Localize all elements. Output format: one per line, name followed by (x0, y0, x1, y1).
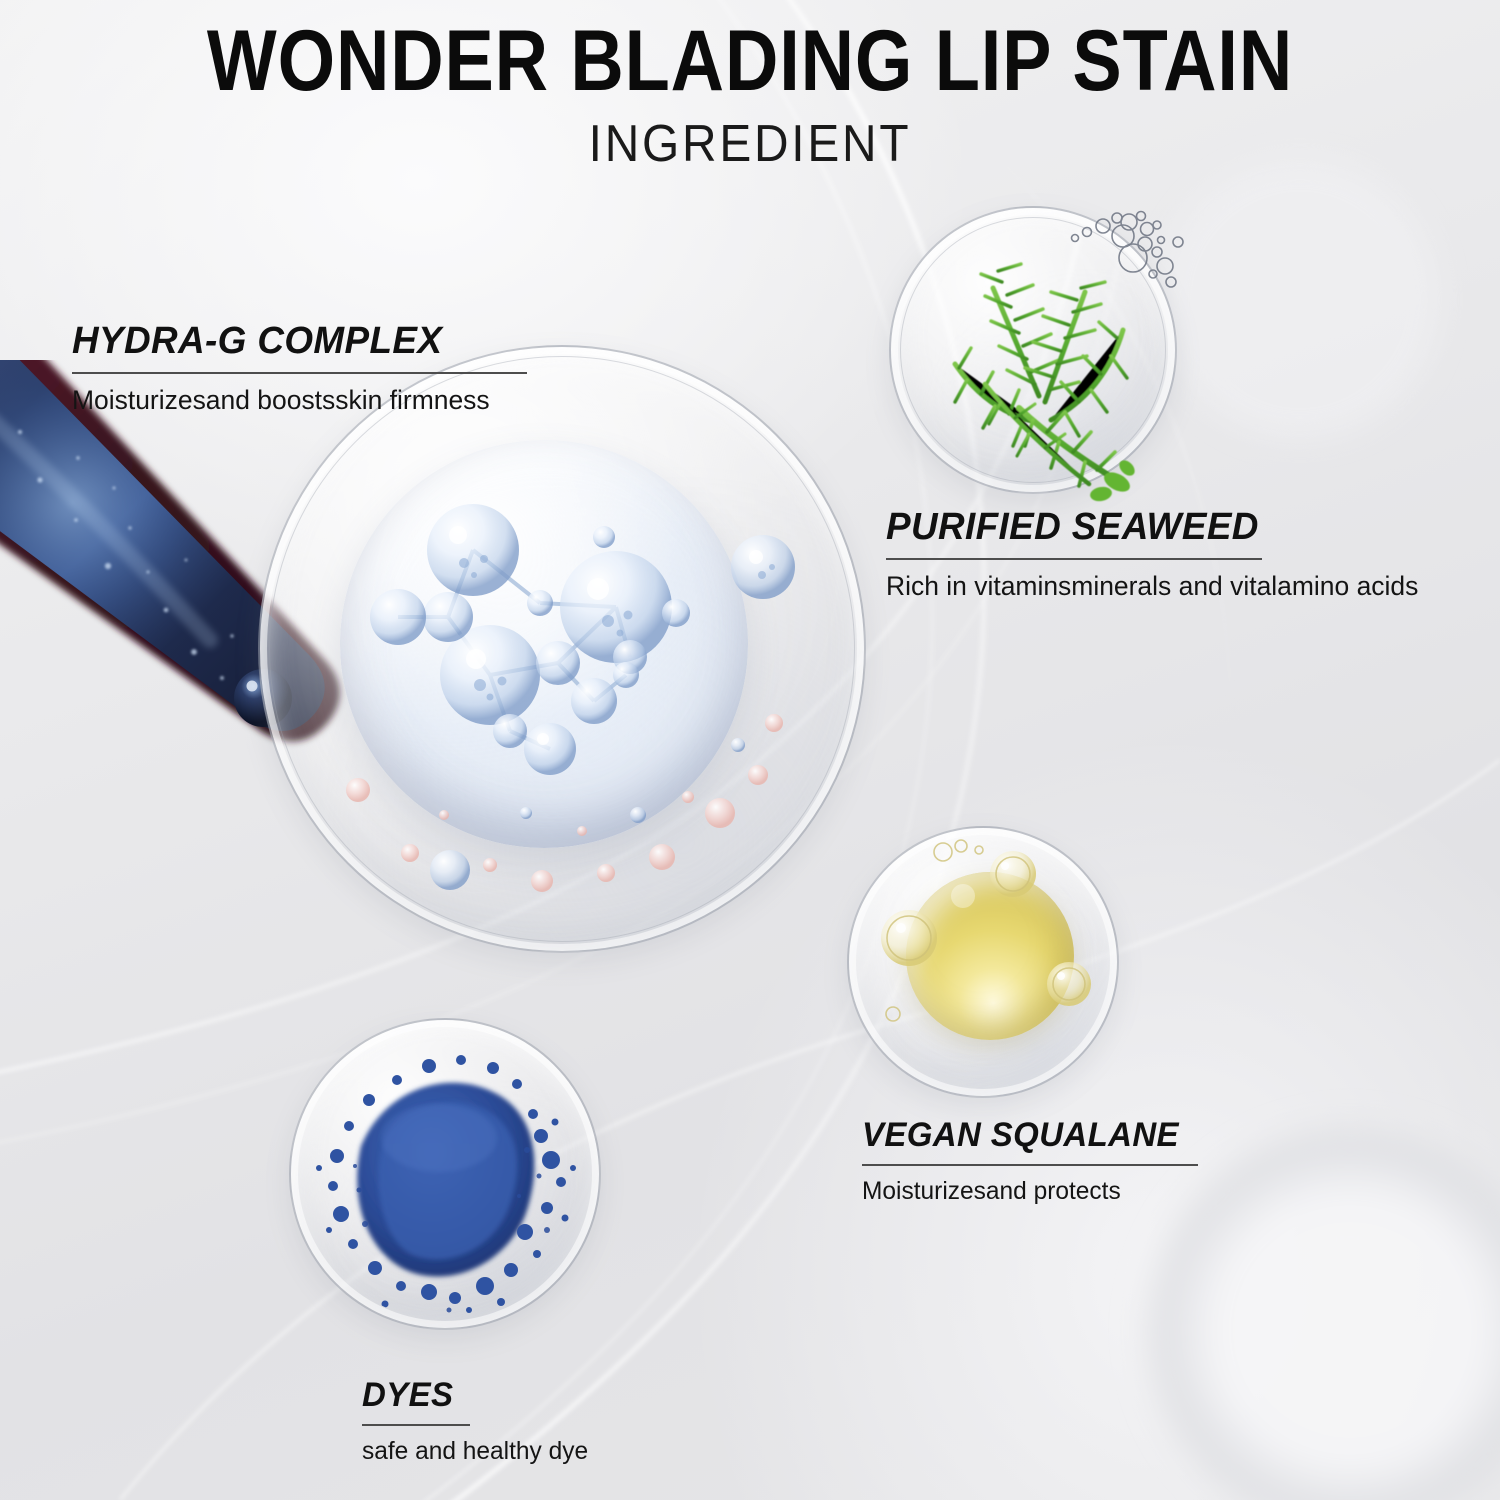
ingredient-description: safe and healthy dye (362, 1436, 588, 1466)
label-dyes: DYES safe and healthy dye (362, 1378, 593, 1466)
seaweed-illustration (889, 196, 1189, 506)
ingredient-description: Rich in vitaminsminerals and vitalamino … (886, 570, 1418, 602)
ingredient-name: DYES (362, 1378, 586, 1414)
label-hydra-g-complex: HYDRA-G COMPLEX Moisturizesand boostsski… (72, 322, 527, 416)
ingredient-name: PURIFIED SEAWEED (886, 508, 1413, 548)
ingredient-name: VEGAN SQUALANE (862, 1118, 1188, 1154)
molecule-structure (258, 345, 866, 953)
page-subtitle: INGREDIENT (60, 118, 1440, 170)
ingredient-name: HYDRA-G COMPLEX (72, 322, 513, 362)
label-rule (886, 558, 1262, 560)
infographic-canvas: WONDER BLADING LIP STAIN INGREDIENT (0, 0, 1500, 1500)
squalane-bubbles (847, 826, 1127, 1106)
label-rule (862, 1164, 1198, 1166)
page-title: WONDER BLADING LIP STAIN (105, 18, 1395, 104)
label-purified-seaweed: PURIFIED SEAWEED Rich in vitaminsmineral… (886, 508, 1429, 602)
ingredient-description: Moisturizesand boostsskin firmness (72, 384, 518, 416)
ingredient-description: Moisturizesand protects (862, 1176, 1191, 1206)
label-rule (362, 1424, 470, 1426)
label-rule (72, 372, 527, 374)
blue-pigment-powder (289, 1018, 601, 1330)
label-vegan-squalane: VEGAN SQUALANE Moisturizesand protects (862, 1118, 1198, 1206)
